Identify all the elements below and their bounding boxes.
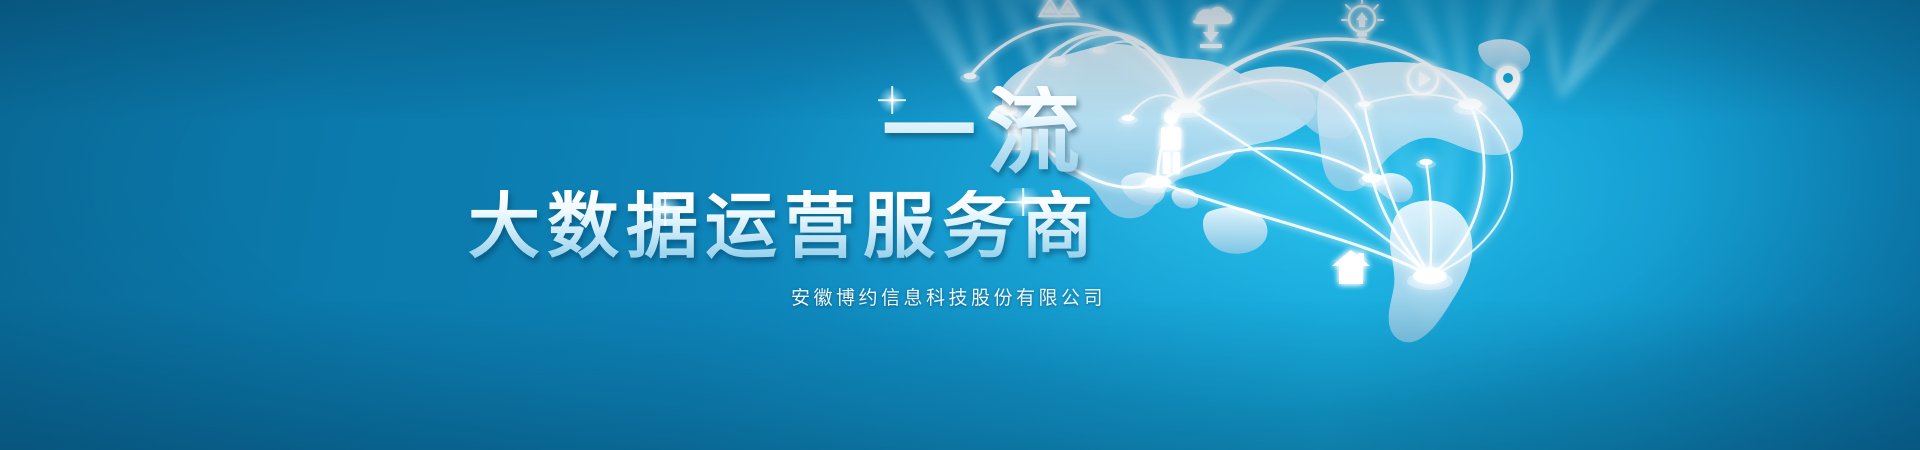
background-top-shade — [0, 0, 1920, 120]
banner-root: 一流 大数据运营服务商 安徽博约信息科技股份有限公司 — [0, 0, 1920, 450]
background-bottom-shade — [0, 300, 1920, 450]
